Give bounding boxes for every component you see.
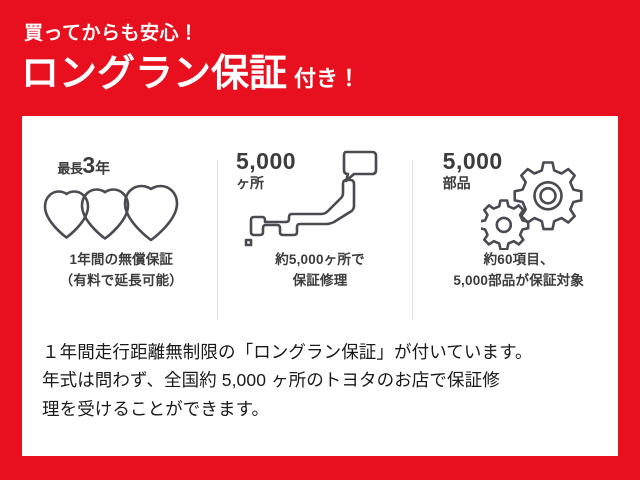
- advertisement-banner: 買ってからも安心！ ロングラン保証付き！ 最長3年: [0, 0, 640, 480]
- feature-covered-parts-icon-area: 5,000 部品: [429, 142, 609, 250]
- header-title: ロングラン保証付き！: [21, 55, 360, 93]
- feature-warranty-term: 最長3年 1年間の無償保証 （有料で延長可能）: [22, 142, 221, 330]
- feature-warranty-term-caption: 1年間の無償保証 （有料で延長可能）: [60, 250, 183, 292]
- three-hearts-icon: [41, 180, 201, 242]
- header-title-main: ロングラン保証: [21, 53, 287, 95]
- gears-icon: [481, 158, 591, 250]
- feature-covered-parts-caption-line2: 5,000部品が保証対象: [453, 271, 584, 292]
- body-copy: １年間走行距離無制限の「ロングラン保証」が付いています。 年式は問わず、全国約 …: [42, 338, 608, 423]
- warranty-term-unit: 年: [95, 160, 110, 177]
- feature-service-locations-caption-line1: 約5,000ヶ所で: [275, 250, 365, 271]
- feature-row: 最長3年 1年間の無償保証 （有料で延長可能）: [22, 142, 618, 330]
- feature-covered-parts-caption-line1: 約60項目、: [453, 250, 584, 271]
- feature-warranty-term-icon-area: 最長3年: [31, 142, 211, 250]
- feature-warranty-term-caption-line2: （有料で延長可能）: [60, 271, 183, 292]
- header-title-suffix: 付き！: [294, 66, 360, 91]
- japan-map-icon: [242, 148, 402, 248]
- feature-service-locations-icon-area: 5,000 ヶ所: [230, 142, 410, 250]
- feature-service-locations-caption-line2: 保証修理: [275, 271, 365, 292]
- feature-service-locations-caption: 約5,000ヶ所で 保証修理: [275, 250, 365, 292]
- body-copy-line1: １年間走行距離無制限の「ロングラン保証」が付いています。: [42, 338, 608, 366]
- feature-warranty-term-caption-line1: 1年間の無償保証: [60, 250, 183, 271]
- warranty-term-label: 最長3年: [57, 154, 110, 177]
- warranty-term-prefix: 最長: [57, 161, 82, 176]
- warranty-term-number: 3: [82, 152, 95, 178]
- header-subtitle: 買ってからも安心！: [24, 24, 199, 43]
- feature-service-locations: 5,000 ヶ所: [221, 142, 420, 330]
- feature-covered-parts-caption: 約60項目、 5,000部品が保証対象: [453, 250, 584, 292]
- content-card: 最長3年 1年間の無償保証 （有料で延長可能）: [22, 116, 618, 456]
- header-band: 買ってからも安心！ ロングラン保証付き！: [0, 0, 640, 112]
- body-copy-line2: 年式は問わず、全国約 5,000 ヶ所のトヨタのお店で保証修: [42, 366, 608, 394]
- feature-covered-parts: 5,000 部品: [419, 142, 618, 330]
- body-copy-line3: 理を受けることができます。: [42, 395, 608, 423]
